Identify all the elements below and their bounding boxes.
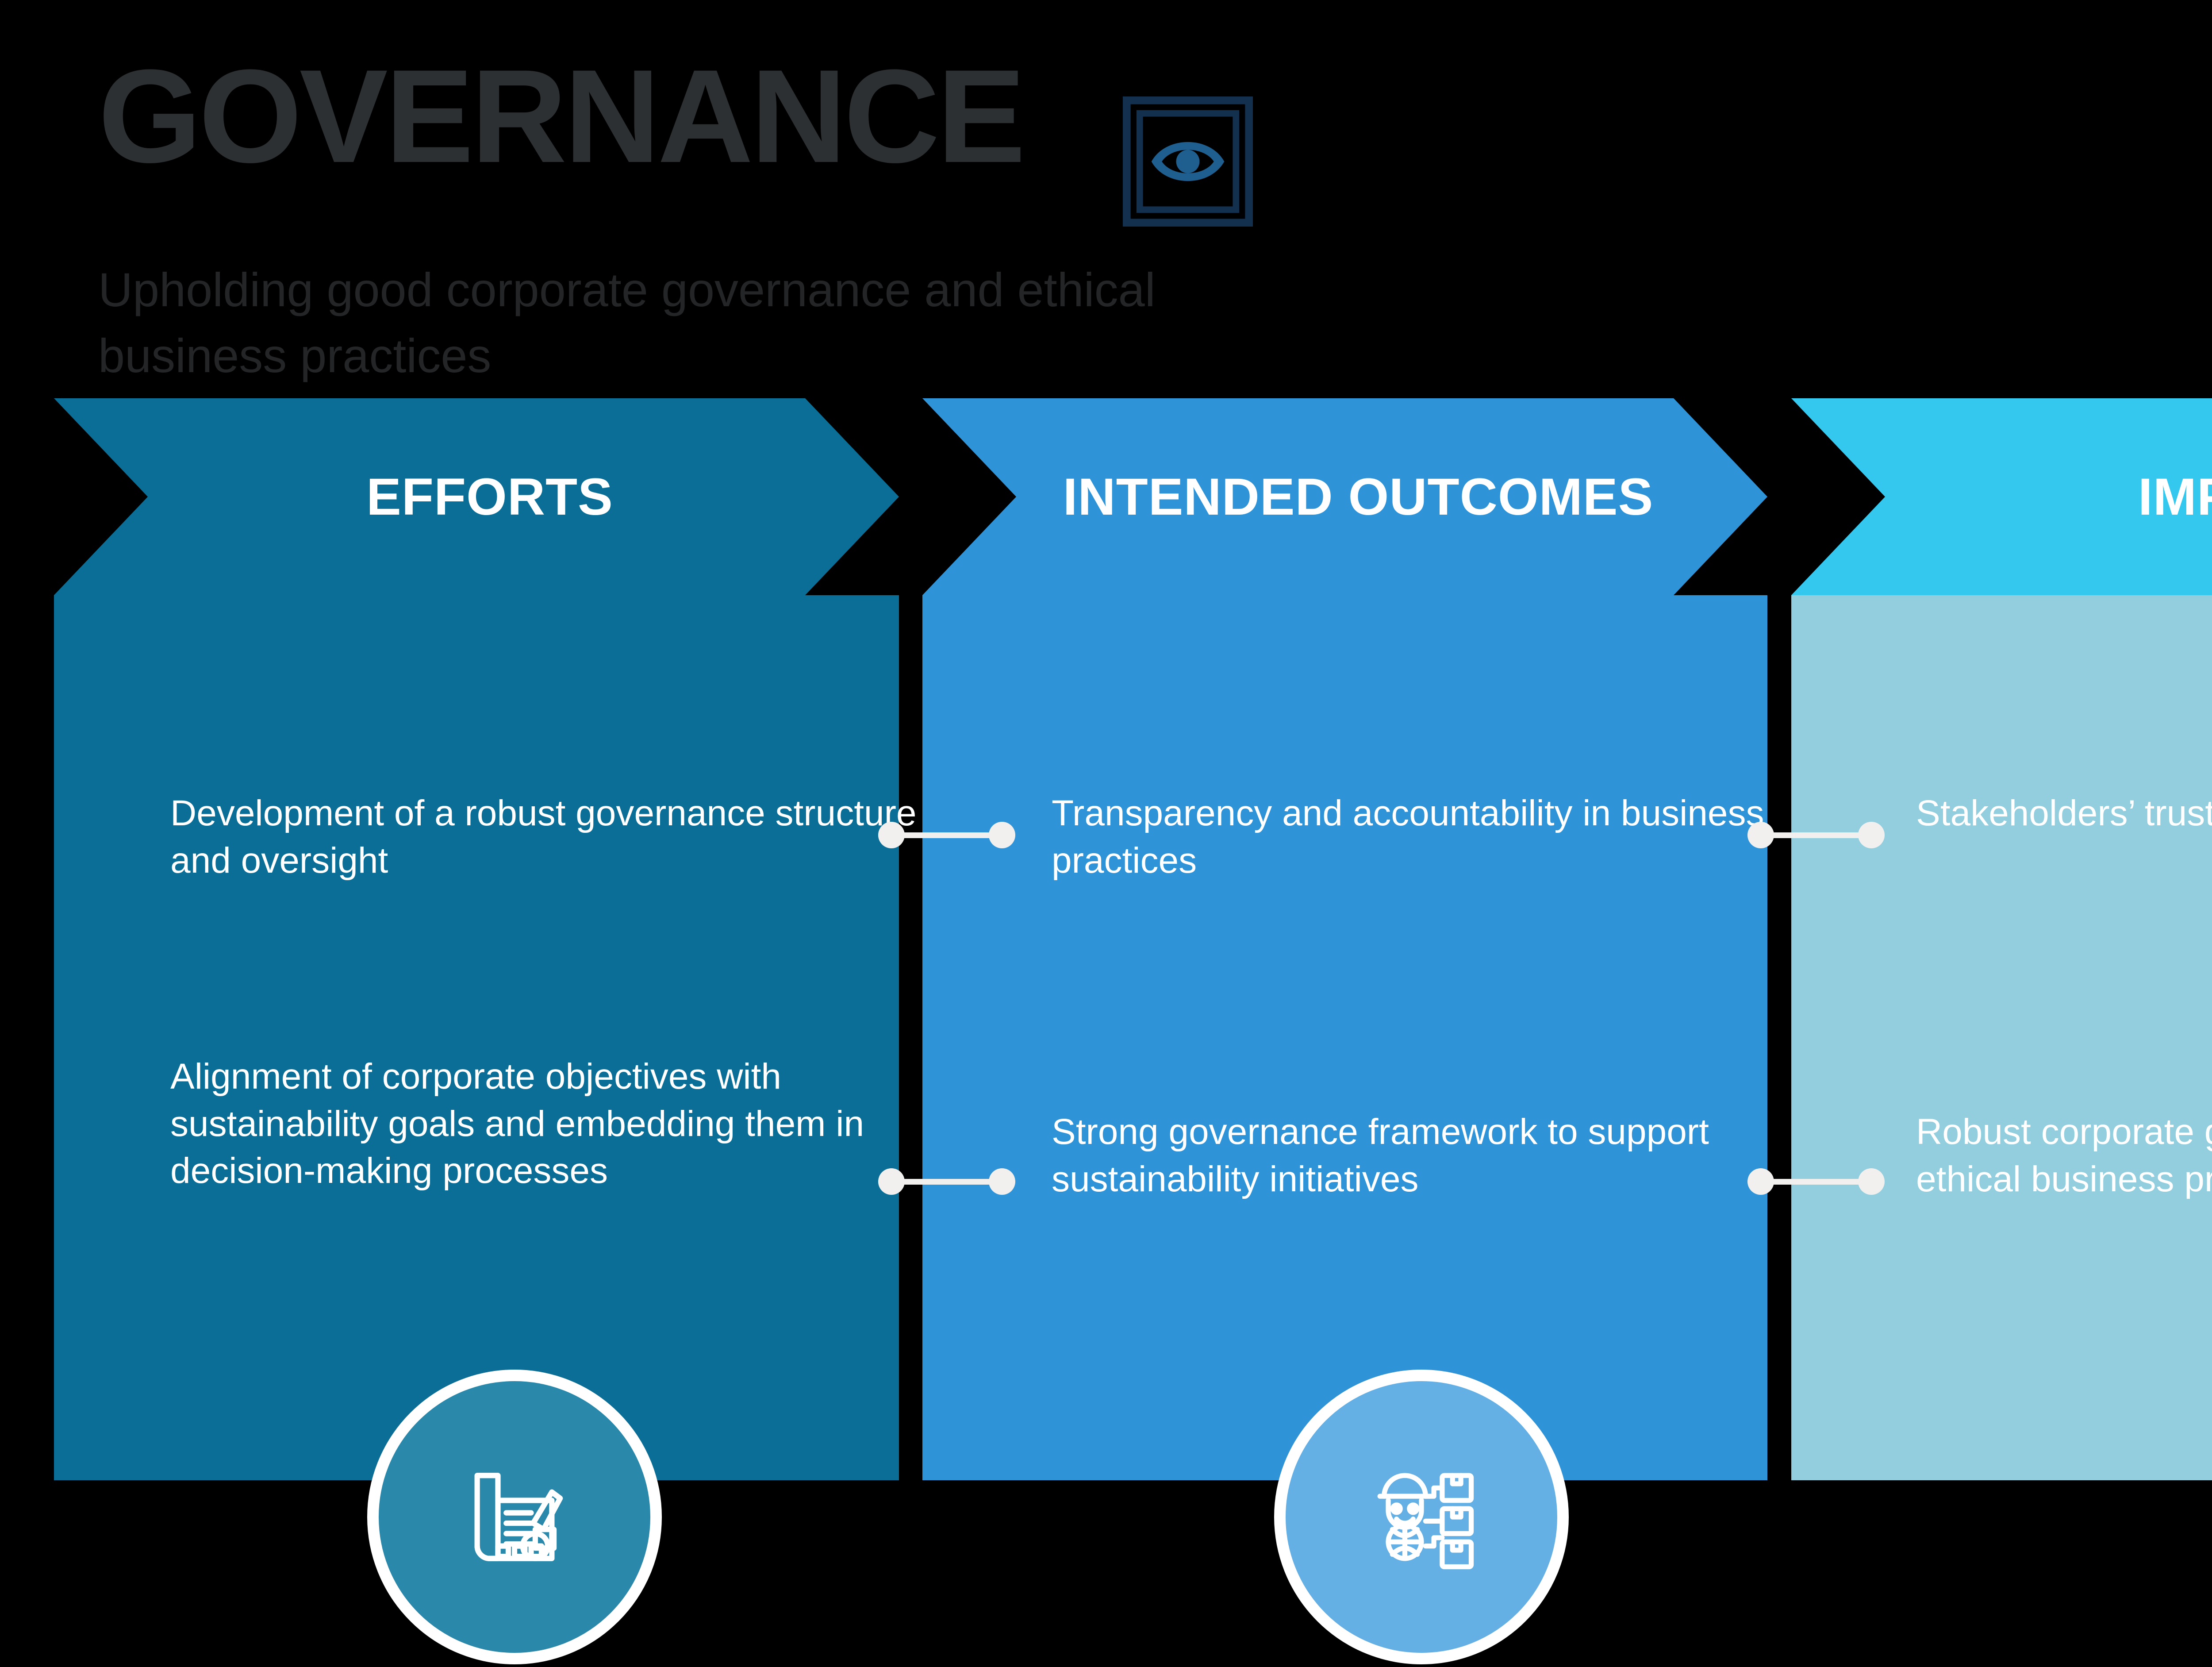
- column-title-intended-outcomes: INTENDED OUTCOMES: [1063, 467, 1654, 527]
- connector-dot-left: [878, 822, 905, 848]
- worker-supply-chain-icon: [1274, 1370, 1569, 1664]
- bullet-intended-outcomes-1: Transparency and accountability in busin…: [1052, 790, 1813, 884]
- column-impacts: IMPACTS Stakeholders’ trust and confiden…: [1791, 398, 2212, 1480]
- connector-dot-left: [878, 1168, 905, 1195]
- connector-line: [1760, 832, 1872, 838]
- column-body-impacts: [1791, 595, 2212, 1480]
- column-body-efforts: [54, 595, 899, 1480]
- connector-line: [891, 832, 1003, 838]
- bullet-impacts-2: Robust corporate governance that ensures…: [1916, 1109, 2212, 1203]
- connector-outcomes-impacts-row1: [1747, 822, 1885, 848]
- connector-dot-left: [1747, 1168, 1774, 1195]
- blueprint-pencil-icon: [367, 1370, 662, 1664]
- connector-dot-right: [1858, 822, 1885, 848]
- column-body-intended-outcomes: [922, 595, 1767, 1480]
- connector-line: [1760, 1179, 1872, 1185]
- bullet-efforts-2: Alignment of corporate objectives with s…: [170, 1053, 931, 1195]
- column-title-efforts: EFFORTS: [366, 467, 613, 527]
- connector-dot-right: [1858, 1168, 1885, 1195]
- bullet-efforts-1: Development of a robust governance struc…: [170, 790, 931, 884]
- column-efforts: EFFORTS Development of a robust governan…: [54, 398, 899, 1480]
- eye-icon: [1123, 96, 1253, 227]
- column-header-impacts: IMPACTS: [1791, 398, 2212, 595]
- connector-line: [891, 1179, 1003, 1185]
- connector-efforts-outcomes-row2: [878, 1168, 1015, 1195]
- connector-dot-right: [989, 1168, 1015, 1195]
- connector-dot-left: [1747, 822, 1774, 848]
- bullet-impacts-1: Stakeholders’ trust and confidence: [1916, 790, 2212, 837]
- connector-dot-right: [989, 822, 1015, 848]
- connector-efforts-outcomes-row1: [878, 822, 1015, 848]
- column-header-intended-outcomes: INTENDED OUTCOMES: [922, 398, 1767, 595]
- bullet-intended-outcomes-2: Strong governance framework to support s…: [1052, 1109, 1813, 1203]
- connector-outcomes-impacts-row2: [1747, 1168, 1885, 1195]
- column-title-impacts: IMPACTS: [2138, 467, 2212, 527]
- column-header-efforts: EFFORTS: [54, 398, 899, 595]
- page-title: GOVERNANCE: [98, 53, 1023, 179]
- column-intended-outcomes: INTENDED OUTCOMES Transparency and accou…: [922, 398, 1767, 1480]
- page-subtitle: Upholding good corporate governance and …: [98, 257, 1302, 389]
